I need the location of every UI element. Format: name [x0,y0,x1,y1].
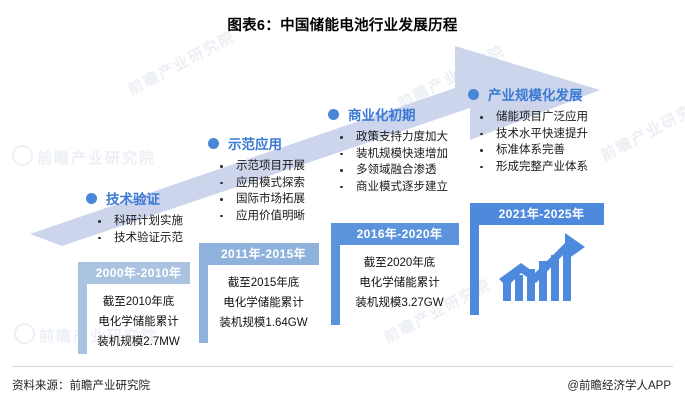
watermark-ring-icon [14,323,35,344]
stage-bullet-list: 储能项目广泛应用 技术水平快速提升 标准体系完善 形成完整产业体系 [468,109,588,175]
list-item: 标准体系完善 [480,142,588,159]
card-accent-stripe [78,262,87,354]
card-text-line: 电化学储能累计 [344,273,455,293]
brand-label: @前瞻经济学人APP [567,377,671,393]
footer-divider [12,366,673,367]
stage-block-3: 商业化初期 政策支持力度加大 装机规模快速增加 多领域融合渗透 商业模式逐步建立 [328,104,448,195]
stage-bullet-list: 科研计划实施 技术验证示范 [86,213,183,246]
stage-bullet-list: 示范项目开展 应用模式探索 国际市场拓展 应用价值明晰 [208,158,305,224]
source-note: 资料来源：前瞻产业研究院 [12,377,150,393]
card-text-line: 截至2010年底 [91,292,186,312]
list-item: 储能项目广泛应用 [480,109,588,126]
infographic-canvas: 图表6：中国储能电池行业发展历程 前瞻产业研究院 前瞻产业研究院 前瞻产业研究院… [0,0,685,403]
card-period-label: 2016年-2020年 [340,223,459,245]
card-text-line: 电化学储能累计 [91,312,186,332]
list-item: 装机规模快速增加 [340,146,448,163]
stage-title: 产业规模化发展 [488,84,583,104]
stage-block-1: 技术验证 科研计划实施 技术验证示范 [86,188,183,246]
stage-header: 示范应用 [208,133,305,153]
list-item: 应用价值明晰 [220,208,305,225]
stage-bullet-list: 政策支持力度加大 装机规模快速增加 多领域融合渗透 商业模式逐步建立 [328,129,448,195]
stage-title: 技术验证 [106,188,160,208]
card-period-label: 2021年-2025年 [479,203,604,225]
stage-block-4: 产业规模化发展 储能项目广泛应用 技术水平快速提升 标准体系完善 形成完整产业体… [468,84,588,175]
card-text-line: 电化学储能累计 [212,293,315,313]
list-item: 政策支持力度加大 [340,129,448,146]
card-accent-stripe [199,243,208,343]
card-text-line: 截至2015年底 [212,273,315,293]
list-item: 示范项目开展 [220,158,305,175]
period-card-3: 2016年-2020年 截至2020年底 电化学储能累计 装机规模3.27GW [331,223,459,319]
period-card-1: 2000年-2010年 截至2010年底 电化学储能累计 装机规模2.7MW [78,262,190,358]
card-accent-stripe [331,223,340,325]
list-item: 商业模式逐步建立 [340,179,448,196]
bullet-dot-icon [468,89,479,100]
period-card-2: 2011年-2015年 截至2015年底 电化学储能累计 装机规模1.64GW [199,243,319,339]
card-period-label: 2011年-2015年 [208,243,319,265]
stage-title: 商业化初期 [348,104,416,124]
list-item: 技术水平快速提升 [480,126,588,143]
list-item: 多领域融合渗透 [340,162,448,179]
list-item: 应用模式探索 [220,175,305,192]
list-item: 国际市场拓展 [220,191,305,208]
stage-header: 技术验证 [86,188,183,208]
stage-title: 示范应用 [228,133,282,153]
stage-block-2: 示范应用 示范项目开展 应用模式探索 国际市场拓展 应用价值明晰 [208,133,305,224]
card-period-label: 2000年-2010年 [87,262,190,284]
stage-header: 产业规模化发展 [468,84,588,104]
list-item: 科研计划实施 [98,213,183,230]
list-item: 技术验证示范 [98,230,183,247]
stage-header: 商业化初期 [328,104,448,124]
card-body: 截至2020年底 电化学储能累计 装机规模3.27GW [340,245,459,319]
growth-chart-icon [479,225,604,308]
card-text-line: 装机规模2.7MW [91,332,186,352]
bullet-dot-icon [208,138,219,149]
period-card-4: 2021年-2025年 [470,203,604,308]
bullet-dot-icon [86,193,97,204]
card-body: 截至2015年底 电化学储能累计 装机规模1.64GW [208,265,319,339]
card-text-line: 装机规模1.64GW [212,313,315,333]
card-accent-stripe [470,203,479,315]
card-body: 截至2010年底 电化学储能累计 装机规模2.7MW [87,284,190,358]
card-text-line: 装机规模3.27GW [344,293,455,313]
list-item: 形成完整产业体系 [480,159,588,176]
bullet-dot-icon [328,109,339,120]
card-text-line: 截至2020年底 [344,253,455,273]
